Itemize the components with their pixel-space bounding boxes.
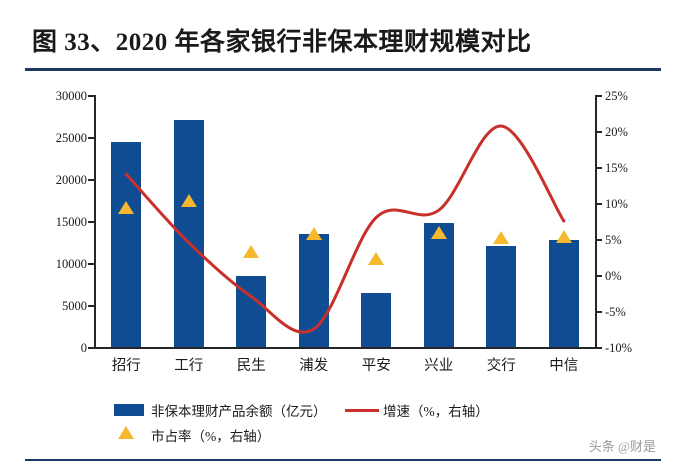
x-label-中信: 中信 [533,354,595,375]
legend-line-swatch [345,409,379,412]
y-axis-label-right: 20% [605,126,661,139]
y-axis-label-left: 25000 [29,132,87,145]
legend-bar-swatch [114,404,144,416]
y-axis-label-right: -5% [605,306,661,319]
y-tick-left [88,263,94,265]
chart-page: 图 33、2020 年各家银行非保本理财规模对比 30000 25000 200… [0,0,684,469]
legend-marker-label: 市占率（%，右轴） [151,425,270,445]
x-label-浦发: 浦发 [283,354,345,375]
y-tick-left [88,137,94,139]
y-axis-label-left: 20000 [29,174,87,187]
legend-bar-label: 非保本理财产品余额（亿元） [151,400,327,420]
y-axis-label-left: 0 [29,342,87,355]
x-label-交行: 交行 [470,354,532,375]
y-tick-right [596,239,602,241]
chart-area: 30000 25000 20000 15000 10000 5000 0 25%… [25,78,661,388]
x-label-招行: 招行 [95,354,157,375]
x-axis [94,347,597,349]
y-tick-right [596,203,602,205]
y-tick-right [596,275,602,277]
y-axis-label-right: 10% [605,198,661,211]
legend-triangle-swatch [118,426,134,439]
x-label-平安: 平安 [345,354,407,375]
watermark: 头条 @财是 [589,436,656,455]
y-axis-label-right: 5% [605,234,661,247]
y-axis-label-right: 15% [605,162,661,175]
y-tick-left [88,347,94,349]
y-axis-label-left: 15000 [29,216,87,229]
bottom-divider [25,459,661,461]
x-label-民生: 民生 [220,354,282,375]
y-axis-label-right: 25% [605,90,661,103]
y-axis-label-left: 30000 [29,90,87,103]
y-tick-right [596,95,602,97]
title-divider [25,68,661,71]
y-axis-label-right: -10% [605,342,661,355]
growth-line-series [95,95,595,347]
y-tick-right [596,131,602,133]
y-tick-right [596,167,602,169]
legend-line-label: 增速（%，右轴） [383,400,489,420]
chart-legend: 非保本理财产品余额（亿元） 增速（%，右轴） 市占率（%，右轴） [25,398,661,450]
y-tick-left [88,221,94,223]
x-label-兴业: 兴业 [408,354,470,375]
y-tick-left [88,305,94,307]
y-tick-right [596,311,602,313]
y-axis-label-left: 10000 [29,258,87,271]
x-label-工行: 工行 [158,354,220,375]
growth-line-path [126,126,564,332]
y-tick-left [88,95,94,97]
y-tick-left [88,179,94,181]
page-title: 图 33、2020 年各家银行非保本理财规模对比 [32,22,652,62]
y-axis-label-left: 5000 [29,300,87,313]
y-tick-right [596,347,602,349]
y-axis-label-right: 0% [605,270,661,283]
